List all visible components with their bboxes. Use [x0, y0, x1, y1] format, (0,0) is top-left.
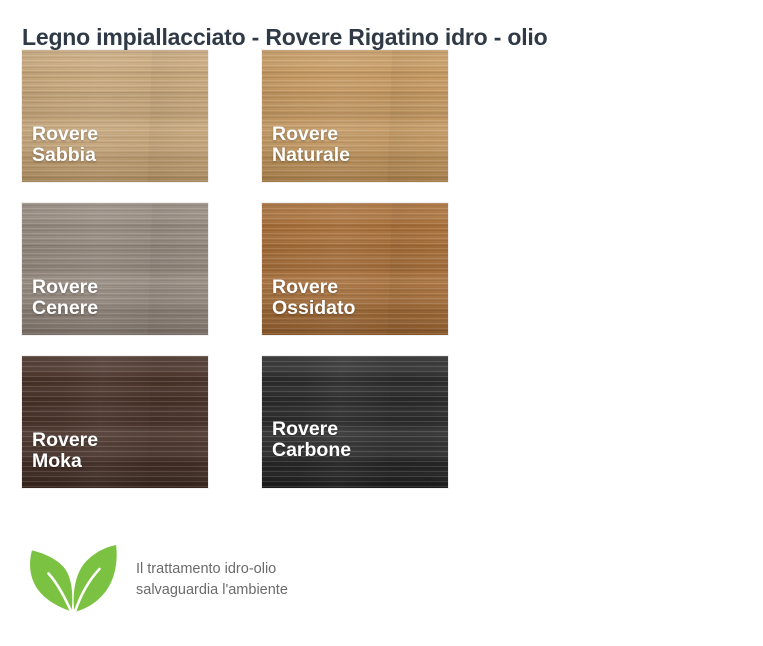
swatch-label: Rovere Moka [32, 430, 98, 473]
swatch-label: Rovere Carbone [272, 419, 351, 462]
swatch-label: Rovere Ossidato [272, 277, 355, 320]
swatch-rovere-cenere[interactable]: Rovere Cenere [22, 203, 208, 335]
eco-footer: Il trattamento idro-olio salvaguardia l'… [25, 540, 288, 620]
swatch-label: Rovere Sabbia [32, 124, 98, 167]
finish-swatch-grid: Rovere Sabbia Rovere Naturale Rovere Cen… [22, 50, 448, 509]
swatch-rovere-moka[interactable]: Rovere Moka [22, 356, 208, 488]
swatch-rovere-sabbia[interactable]: Rovere Sabbia [22, 50, 208, 182]
leaves-icon [25, 540, 120, 620]
page-title: Legno impiallacciato - Rovere Rigatino i… [22, 24, 547, 51]
swatch-label: Rovere Cenere [32, 277, 98, 320]
eco-caption: Il trattamento idro-olio salvaguardia l'… [136, 559, 288, 602]
swatch-row: Rovere Moka Rovere Carbone [22, 356, 448, 488]
swatch-rovere-carbone[interactable]: Rovere Carbone [262, 356, 448, 488]
swatch-rovere-naturale[interactable]: Rovere Naturale [262, 50, 448, 182]
swatch-label: Rovere Naturale [272, 124, 350, 167]
swatch-rovere-ossidato[interactable]: Rovere Ossidato [262, 203, 448, 335]
swatch-row: Rovere Cenere Rovere Ossidato [22, 203, 448, 335]
swatch-row: Rovere Sabbia Rovere Naturale [22, 50, 448, 182]
product-finishes-page: Legno impiallacciato - Rovere Rigatino i… [0, 0, 763, 646]
